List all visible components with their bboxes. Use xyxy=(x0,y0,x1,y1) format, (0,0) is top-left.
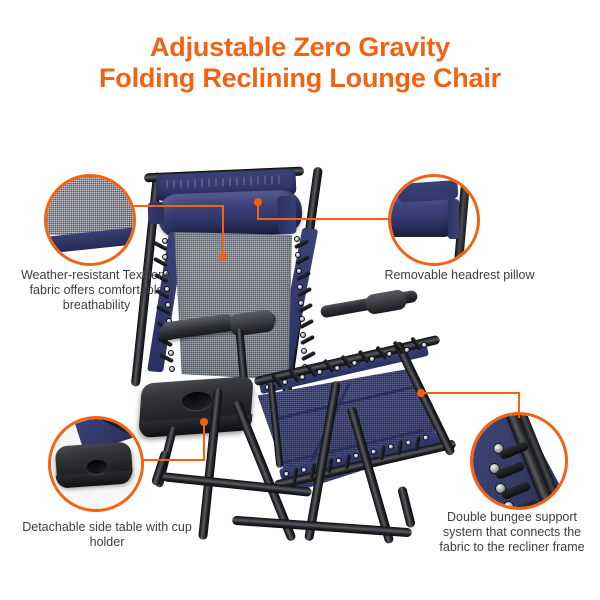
armrest-right-joint xyxy=(365,289,408,316)
textilene-mesh-texture xyxy=(47,177,133,235)
connector-line-fabric-vertical xyxy=(222,205,224,257)
backrest-mesh-panel xyxy=(172,232,292,380)
callout-bubble-side-table xyxy=(48,416,144,512)
headrest-pillow-strap xyxy=(277,196,296,235)
connector-line-pillow-horizontal xyxy=(257,218,390,220)
title-line-2: Folding Reclining Lounge Chair xyxy=(0,63,600,94)
eyelet-detail xyxy=(503,501,514,507)
callout-caption-fabric: Weather-resistant Textilene fabric offer… xyxy=(14,268,179,313)
callout-caption-bungee: Double bungee support system that connec… xyxy=(428,510,596,555)
fabric-swatch-image xyxy=(47,177,133,263)
connector-line-table-vertical xyxy=(203,422,205,460)
callout-caption-table: Detachable side table with cup holder xyxy=(12,520,202,550)
connector-line-fabric-horizontal xyxy=(134,205,224,207)
connector-line-bungee-vertical xyxy=(518,392,520,418)
infographic-canvas: Adjustable Zero Gravity Folding Reclinin… xyxy=(0,0,600,600)
connector-line-table-horizontal xyxy=(142,459,205,461)
side-table-image xyxy=(51,419,141,509)
page-title: Adjustable Zero Gravity Folding Reclinin… xyxy=(0,32,600,94)
callout-caption-pillow: Removable headrest pillow xyxy=(372,268,547,283)
headrest-pillow-image xyxy=(391,177,477,263)
connector-dot-fabric xyxy=(219,253,227,261)
bungee-detail-image xyxy=(473,415,565,507)
connector-line-bungee-horizontal xyxy=(421,392,520,394)
pillow-strap-detail xyxy=(448,199,459,239)
title-line-1: Adjustable Zero Gravity xyxy=(150,32,450,62)
callout-bubble-bungee xyxy=(470,412,568,510)
callout-bubble-fabric xyxy=(44,174,136,266)
callout-bubble-pillow xyxy=(388,174,480,266)
base-foot-right xyxy=(397,486,416,529)
